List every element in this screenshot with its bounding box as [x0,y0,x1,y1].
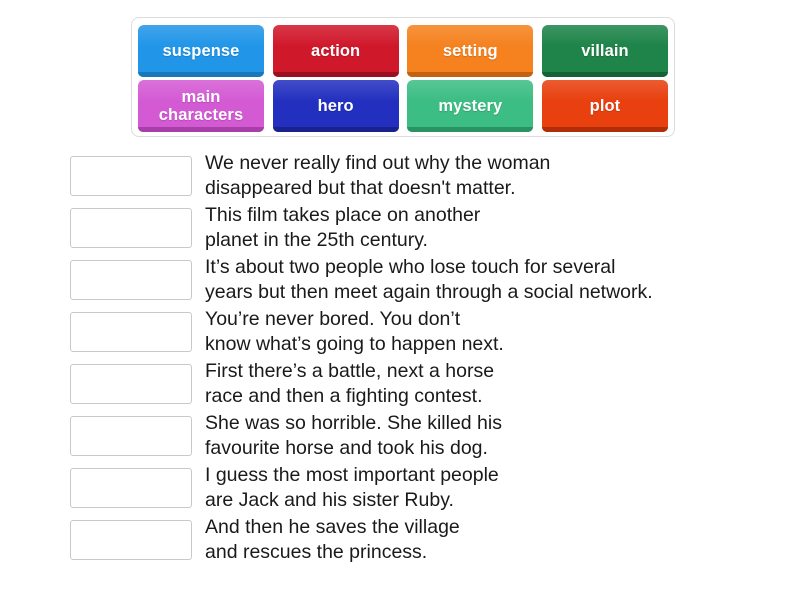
question-text: We never really find out why the woman d… [205,151,550,202]
word-bank-row: main charactersheromysteryplot [138,80,668,132]
word-tile-action[interactable]: action [273,25,399,77]
word-tile-label: plot [590,97,621,115]
word-tile-main-characters[interactable]: main characters [138,80,264,132]
word-bank-row: suspenseactionsettingvillain [138,25,668,77]
question-row: She was so horrible. She killed his favo… [70,410,800,462]
question-text: I guess the most important people are Ja… [205,463,499,514]
question-row: It’s about two people who lose touch for… [70,254,800,306]
word-tile-suspense[interactable]: suspense [138,25,264,77]
question-row: You’re never bored. You don’t know what’… [70,306,800,358]
question-row: First there’s a battle, next a horse rac… [70,358,800,410]
question-list: We never really find out why the woman d… [70,150,800,566]
answer-dropzone[interactable] [70,156,192,196]
answer-dropzone[interactable] [70,520,192,560]
word-tile-label: hero [318,97,354,115]
question-row: We never really find out why the woman d… [70,150,800,202]
word-tile-plot[interactable]: plot [542,80,668,132]
word-tile-label: mystery [438,97,502,115]
word-tile-label: main characters [142,88,260,125]
answer-dropzone[interactable] [70,208,192,248]
word-tile-setting[interactable]: setting [407,25,533,77]
question-text: She was so horrible. She killed his favo… [205,411,502,462]
question-text: And then he saves the village and rescue… [205,515,460,566]
question-row: I guess the most important people are Ja… [70,462,800,514]
word-tile-label: suspense [163,42,240,60]
question-row: And then he saves the village and rescue… [70,514,800,566]
answer-dropzone[interactable] [70,260,192,300]
answer-dropzone[interactable] [70,312,192,352]
answer-dropzone[interactable] [70,468,192,508]
question-text: This film takes place on another planet … [205,203,480,254]
answer-dropzone[interactable] [70,416,192,456]
question-text: It’s about two people who lose touch for… [205,255,653,306]
word-tile-hero[interactable]: hero [273,80,399,132]
word-tile-label: action [311,42,360,60]
question-row: This film takes place on another planet … [70,202,800,254]
word-bank: suspenseactionsettingvillainmain charact… [131,17,675,137]
answer-dropzone[interactable] [70,364,192,404]
word-tile-villain[interactable]: villain [542,25,668,77]
word-tile-label: setting [443,42,498,60]
word-tile-label: villain [581,42,628,60]
word-tile-mystery[interactable]: mystery [407,80,533,132]
question-text: First there’s a battle, next a horse rac… [205,359,494,410]
question-text: You’re never bored. You don’t know what’… [205,307,504,358]
